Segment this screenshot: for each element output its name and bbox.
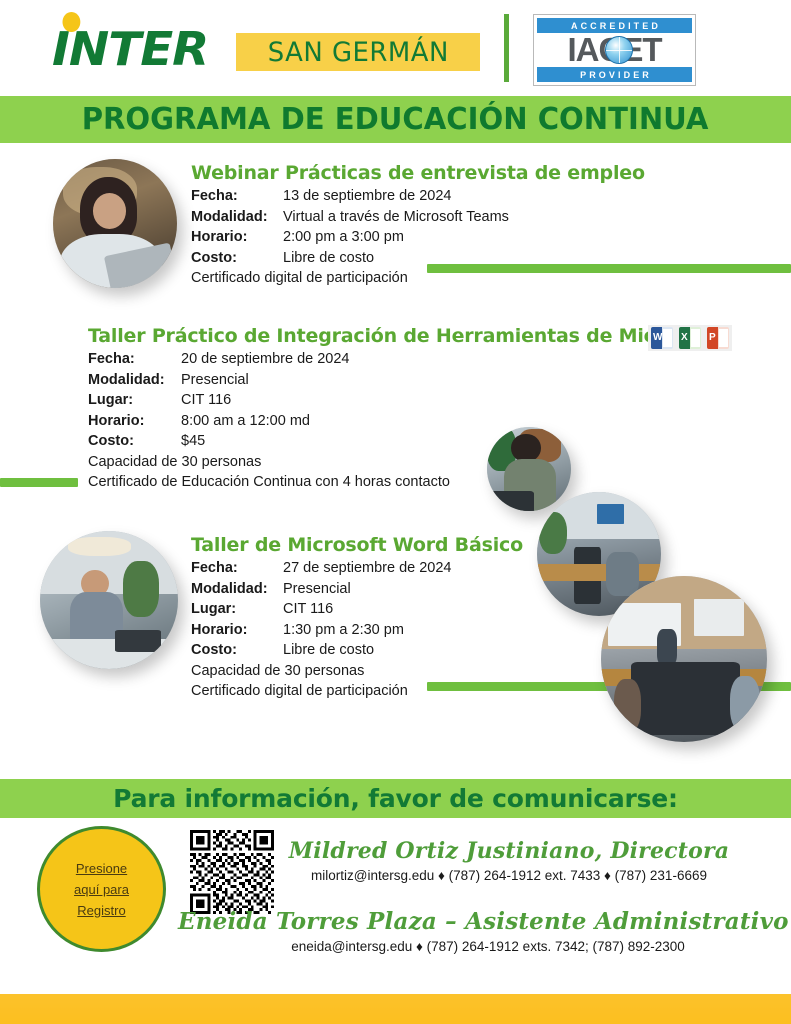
event-title: Taller Práctico de Integración de Herram… (88, 325, 718, 347)
contact-details: eneida@intersg.edu ♦ (787) 264-1912 exts… (178, 939, 738, 954)
photo-shape (597, 504, 624, 524)
event-detail-row: Fecha: 27 de septiembre de 2024 (191, 558, 523, 579)
contact-details: milortiz@intersg.edu ♦ (787) 264-1912 ex… (283, 868, 735, 883)
event-detail-label: Horario: (88, 411, 181, 432)
event-detail-row: Lugar: CIT 116 (191, 599, 523, 620)
photo-shape (694, 599, 744, 636)
iacet-bottom-band: PROVIDER (537, 67, 692, 82)
event-note: Certificado digital de participación (191, 268, 645, 289)
globe-icon (605, 36, 633, 64)
event-detail-row: Modalidad: Presencial (191, 579, 523, 600)
campus-name-text: SAN GERMÁN (267, 37, 448, 68)
event-block-word-basico-workshop: Taller de Microsoft Word Básico Fecha: 2… (191, 534, 523, 702)
photo-scene (601, 576, 767, 742)
contact-name: Mildred Ortiz Justiniano, Directora (283, 838, 735, 864)
document-page-shape (663, 329, 672, 347)
event-detail-label: Horario: (191, 227, 283, 248)
photo-shape (490, 491, 534, 511)
event-detail-value: 27 de septiembre de 2024 (283, 558, 452, 579)
event-detail-label: Modalidad: (191, 207, 283, 228)
iacet-accredited-provider-logo: ACCREDITED IACET PROVIDER (533, 14, 696, 86)
event-note: Certificado de Educación Continua con 4 … (88, 472, 718, 493)
event-detail-label: Costo: (191, 248, 283, 269)
event-detail-row: Horario: 8:00 am a 12:00 md (88, 411, 718, 432)
register-button-line-2: aquí para (74, 879, 129, 900)
photo-scene (40, 531, 178, 669)
photo-man-at-workstation (40, 531, 178, 669)
event-detail-value: Virtual a través de Microsoft Teams (283, 207, 509, 228)
photo-scene (53, 159, 177, 288)
event-detail-value: 20 de septiembre de 2024 (181, 349, 350, 370)
photo-shape (68, 537, 131, 556)
event-title: Taller de Microsoft Word Básico (191, 534, 523, 556)
event-detail-row: Fecha: 13 de septiembre de 2024 (191, 186, 645, 207)
event-detail-value: $45 (181, 431, 205, 452)
event-note: Capacidad de 30 personas (88, 452, 718, 473)
event-detail-value: Presencial (283, 579, 351, 600)
event-detail-row: Costo: $45 (88, 431, 718, 452)
event-detail-value: Presencial (181, 370, 249, 391)
program-title-bar: PROGRAMA DE EDUCACIÓN CONTINUA (0, 96, 791, 143)
iacet-letters-row: IACET (537, 33, 692, 67)
contact-administrative-assistant: Eneida Torres Plaza – Asistente Administ… (178, 908, 738, 954)
register-button-line-3: Registro (77, 900, 125, 921)
photo-computer-lab-students (601, 576, 767, 742)
photo-shape (93, 193, 126, 229)
contact-heading-bar: Para información, favor de comunicarse: (0, 779, 791, 818)
microsoft-word-icon: W (651, 327, 673, 349)
event-detail-row: Fecha: 20 de septiembre de 2024 (88, 349, 718, 370)
document-page-shape (719, 329, 728, 347)
event-detail-value: 2:00 pm a 3:00 pm (283, 227, 404, 248)
microsoft-powerpoint-icon: P (707, 327, 729, 349)
register-button-line-1: Presione (76, 858, 127, 879)
event-detail-value: Libre de costo (283, 640, 374, 661)
document-page-shape (691, 329, 700, 347)
event-note: Capacidad de 30 personas (191, 661, 523, 682)
header-divider (504, 14, 509, 82)
photo-shape (730, 676, 760, 732)
photo-woman-with-laptop (53, 159, 177, 288)
decor-bar-left (0, 478, 78, 487)
event-detail-value: CIT 116 (181, 390, 231, 411)
event-detail-row: Lugar: CIT 116 (88, 390, 718, 411)
page-header: INTER SAN GERMÁN ACCREDITED IACET PROVID… (0, 0, 791, 96)
event-detail-value: 13 de septiembre de 2024 (283, 186, 452, 207)
iacet-accredited-text: ACCREDITED (568, 21, 661, 31)
microsoft-apps-icon-group: W X P (648, 325, 732, 351)
microsoft-powerpoint-icon-letter: P (709, 332, 716, 343)
event-detail-row: Costo: Libre de costo (191, 640, 523, 661)
event-detail-label: Fecha: (88, 349, 181, 370)
photo-shape (123, 561, 159, 616)
microsoft-excel-icon: X (679, 327, 701, 349)
inter-logo-dot-icon (63, 12, 81, 32)
qr-code-icon (190, 830, 274, 914)
microsoft-word-icon-letter: W (653, 332, 662, 343)
event-detail-label: Modalidad: (88, 370, 181, 391)
event-detail-label: Costo: (88, 431, 181, 452)
contact-director: Mildred Ortiz Justiniano, Directora milo… (283, 838, 735, 883)
bottom-accent-bar (0, 994, 791, 1024)
event-detail-value: 8:00 am a 12:00 md (181, 411, 310, 432)
event-detail-value: Libre de costo (283, 248, 374, 269)
qr-code[interactable] (190, 830, 274, 914)
photo-shape (657, 629, 677, 666)
event-detail-row: Modalidad: Presencial (88, 370, 718, 391)
event-detail-label: Fecha: (191, 186, 283, 207)
event-note: Certificado digital de participación (191, 681, 523, 702)
page-title: PROGRAMA DE EDUCACIÓN CONTINUA (82, 102, 709, 137)
photo-shape (115, 630, 162, 652)
event-detail-label: Costo: (191, 640, 283, 661)
event-detail-label: Horario: (191, 620, 283, 641)
photo-shape (539, 512, 566, 554)
event-detail-label: Modalidad: (191, 579, 283, 600)
event-detail-row: Horario: 2:00 pm a 3:00 pm (191, 227, 645, 248)
event-detail-value: CIT 116 (283, 599, 333, 620)
iacet-provider-text: PROVIDER (577, 70, 652, 80)
microsoft-excel-icon-letter: X (681, 332, 688, 343)
event-detail-label: Lugar: (191, 599, 283, 620)
contact-heading: Para información, favor de comunicarse: (113, 784, 678, 813)
photo-shape (614, 679, 641, 732)
event-block-webinar: Webinar Prácticas de entrevista de emple… (191, 162, 645, 289)
register-button[interactable]: Presione aquí para Registro (37, 826, 166, 952)
event-detail-row: Costo: Libre de costo (191, 248, 645, 269)
inter-logo-wordmark: INTER (52, 26, 208, 72)
event-detail-value: 1:30 pm a 2:30 pm (283, 620, 404, 641)
event-detail-label: Lugar: (88, 390, 181, 411)
event-title: Webinar Prácticas de entrevista de emple… (191, 162, 645, 184)
inter-logo: INTER (52, 26, 201, 72)
photo-shape (631, 662, 741, 735)
event-detail-row: Modalidad: Virtual a través de Microsoft… (191, 207, 645, 228)
event-detail-label: Fecha: (191, 558, 283, 579)
event-block-microsoft-tools-workshop: Taller Práctico de Integración de Herram… (88, 325, 718, 493)
campus-name-badge: SAN GERMÁN (236, 33, 480, 71)
event-detail-row: Horario: 1:30 pm a 2:30 pm (191, 620, 523, 641)
contact-name: Eneida Torres Plaza – Asistente Administ… (178, 908, 738, 935)
